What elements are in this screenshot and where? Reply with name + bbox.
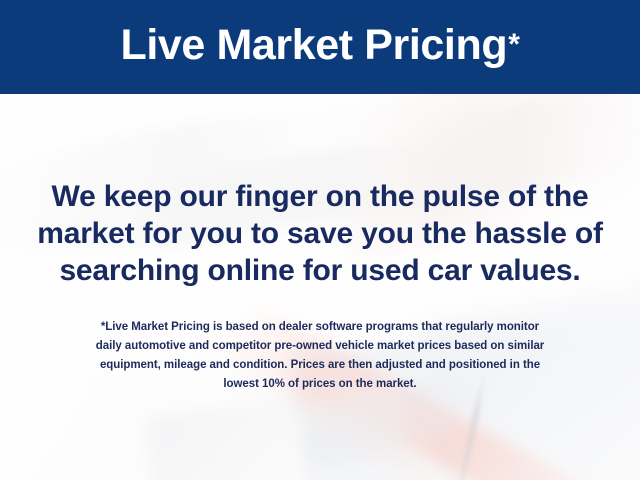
headline: We keep our finger on the pulse of the m… — [0, 178, 640, 289]
headline-line-2: market for you to save you the hassle of — [0, 215, 640, 252]
banner-title: Live Market Pricing* — [0, 0, 640, 90]
live-market-pricing-banner: Live Market Pricing* We keep our finger … — [0, 0, 640, 480]
fineprint-line-4: lowest 10% of prices on the market. — [0, 375, 640, 394]
fineprint-line-1: *Live Market Pricing is based on dealer … — [0, 318, 640, 337]
disclaimer-fineprint: *Live Market Pricing is based on dealer … — [0, 318, 640, 394]
headline-line-1: We keep our finger on the pulse of the — [0, 178, 640, 215]
banner-title-text: Live Market Pricing — [121, 24, 508, 67]
banner-title-asterisk: * — [508, 30, 519, 60]
header-divider — [0, 90, 640, 94]
fineprint-line-3: equipment, mileage and condition. Prices… — [0, 356, 640, 375]
fineprint-line-2: daily automotive and competitor pre-owne… — [0, 337, 640, 356]
headline-line-3: searching online for used car values. — [0, 252, 640, 289]
